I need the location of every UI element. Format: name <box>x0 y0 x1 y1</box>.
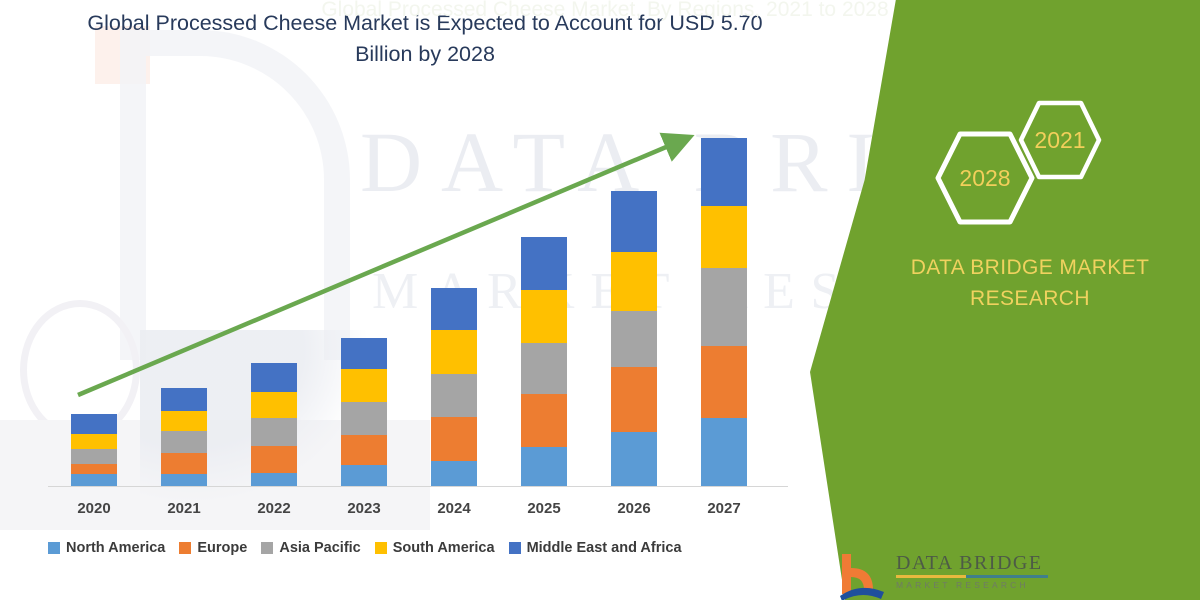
logo-divider <box>896 575 1048 578</box>
legend-label: Europe <box>197 540 247 556</box>
legend-swatch-icon <box>375 542 387 554</box>
infographic-root: DATA BRIDGE MARKET RESEARCH Global Proce… <box>0 0 1200 600</box>
bar-segment <box>161 431 207 453</box>
panel-title: Global Processed Cheese Market, By Regio… <box>20 0 1190 25</box>
logo-name: DATA BRIDGE <box>896 552 1048 574</box>
bar-segment <box>71 474 117 486</box>
bar-2027[interactable] <box>701 138 747 486</box>
bar-segment <box>251 392 297 418</box>
bar-segment <box>521 343 567 394</box>
bar-segment <box>251 473 297 486</box>
bar-segment <box>701 346 747 418</box>
x-axis-label-2020: 2020 <box>49 500 139 517</box>
bar-segment <box>701 138 747 206</box>
chart-area: 20202021202220232024202520262027 <box>0 0 810 600</box>
bar-segment <box>341 435 387 465</box>
x-axis-label-2023: 2023 <box>319 500 409 517</box>
legend-swatch-icon <box>179 542 191 554</box>
bar-segment <box>251 363 297 392</box>
x-axis-label-2025: 2025 <box>499 500 589 517</box>
bar-segment <box>341 465 387 486</box>
bar-segment <box>161 474 207 486</box>
x-axis-line <box>48 486 788 487</box>
bar-segment <box>431 330 477 374</box>
bar-segment <box>161 388 207 411</box>
bar-segment <box>521 237 567 290</box>
bar-2022[interactable] <box>251 363 297 486</box>
bar-2021[interactable] <box>161 388 207 486</box>
bar-segment <box>251 446 297 473</box>
bar-segment <box>431 461 477 486</box>
legend-swatch-icon <box>48 542 60 554</box>
bar-segment <box>71 414 117 434</box>
hexagon-2021: 2021 <box>1018 100 1102 180</box>
bar-segment <box>611 367 657 432</box>
bar-segment <box>161 411 207 431</box>
bar-segment <box>341 369 387 402</box>
bar-segment <box>71 434 117 449</box>
legend-item-europe[interactable]: Europe <box>179 540 247 556</box>
bar-segment <box>701 206 747 268</box>
x-axis-label-2027: 2027 <box>679 500 769 517</box>
bar-segment <box>341 338 387 369</box>
bridge-logo-icon <box>840 552 886 600</box>
bar-2024[interactable] <box>431 288 477 486</box>
bar-segment <box>71 449 117 464</box>
legend-label: North America <box>66 540 165 556</box>
bar-segment <box>431 288 477 330</box>
bar-2023[interactable] <box>341 338 387 486</box>
bar-segment <box>161 453 207 474</box>
x-axis-label-2021: 2021 <box>139 500 229 517</box>
legend-item-south-america[interactable]: South America <box>375 540 495 556</box>
legend-label: Asia Pacific <box>279 540 360 556</box>
company-logo: DATA BRIDGE MARKET RESEARCH <box>840 552 1048 600</box>
bar-2020[interactable] <box>71 414 117 486</box>
bar-segment <box>701 418 747 486</box>
panel-brand-text: DATA BRIDGE MARKET RESEARCH <box>880 252 1180 314</box>
hexagon-2021-label: 2021 <box>1034 127 1085 154</box>
legend-item-north-america[interactable]: North America <box>48 540 165 556</box>
bar-2026[interactable] <box>611 191 657 486</box>
x-axis-label-2026: 2026 <box>589 500 679 517</box>
bar-segment <box>431 417 477 461</box>
bar-segment <box>71 464 117 474</box>
legend-item-middle-east-and-africa[interactable]: Middle East and Africa <box>509 540 682 556</box>
chart-legend: North AmericaEuropeAsia PacificSouth Ame… <box>48 540 682 556</box>
hexagon-2028-label: 2028 <box>959 165 1010 192</box>
x-axis-label-2024: 2024 <box>409 500 499 517</box>
bar-segment <box>521 290 567 343</box>
bar-segment <box>611 252 657 311</box>
legend-label: Middle East and Africa <box>527 540 682 556</box>
bar-segment <box>611 432 657 486</box>
legend-swatch-icon <box>509 542 521 554</box>
bar-segment <box>431 374 477 417</box>
bar-segment <box>521 447 567 486</box>
bar-segment <box>341 402 387 435</box>
bar-2025[interactable] <box>521 237 567 486</box>
logo-tagline: MARKET RESEARCH <box>896 580 1048 590</box>
bar-segment <box>251 418 297 446</box>
bar-segment <box>611 191 657 252</box>
legend-item-asia-pacific[interactable]: Asia Pacific <box>261 540 360 556</box>
legend-label: South America <box>393 540 495 556</box>
bar-segment <box>701 268 747 346</box>
bar-segment <box>521 394 567 447</box>
legend-swatch-icon <box>261 542 273 554</box>
bar-segment <box>611 311 657 367</box>
x-axis-label-2022: 2022 <box>229 500 319 517</box>
